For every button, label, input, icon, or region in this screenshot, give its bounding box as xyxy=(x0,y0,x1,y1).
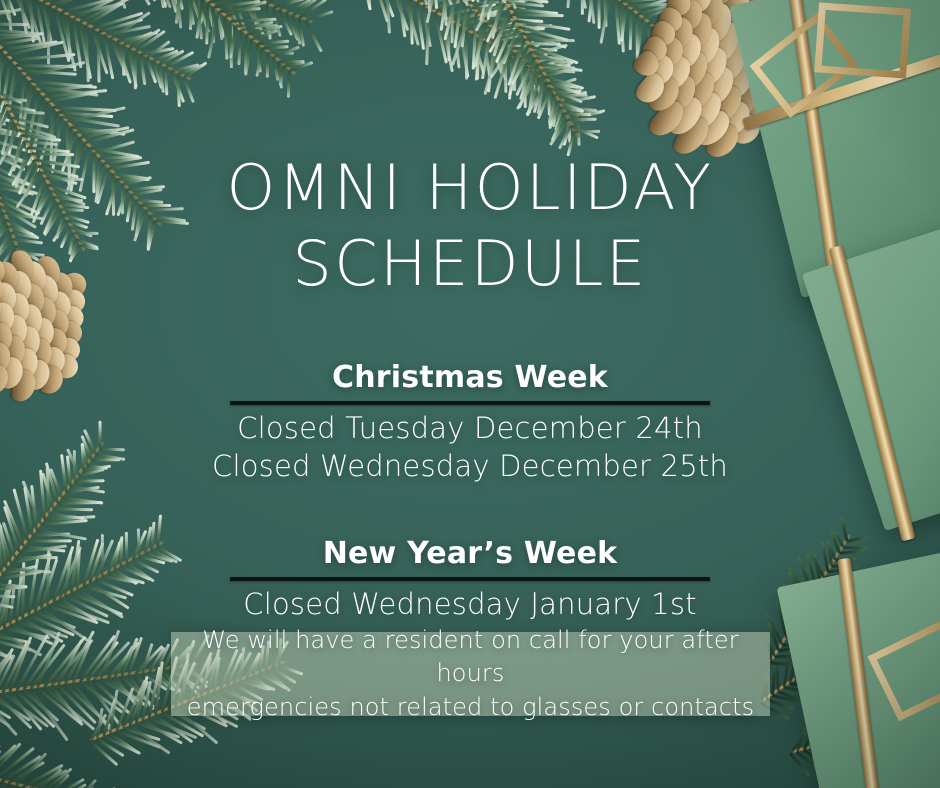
section-heading-new-year: New Year’s Week xyxy=(0,536,940,571)
section-line-christmas-1: Closed Tuesday December 24th xyxy=(0,409,940,447)
title-line-2: SCHEDULE xyxy=(0,226,940,302)
section-heading-christmas: Christmas Week xyxy=(0,360,940,395)
after-hours-banner: We will have a resident on call for your… xyxy=(171,632,770,716)
banner-line-2: emergencies not related to glasses or co… xyxy=(187,693,754,721)
section-new-year: New Year’s Week Closed Wednesday January… xyxy=(0,536,940,623)
section-christmas: Christmas Week Closed Tuesday December 2… xyxy=(0,360,940,486)
page-title: OMNI HOLIDAY SCHEDULE xyxy=(0,150,940,301)
section-line-christmas-2: Closed Wednesday December 25th xyxy=(0,447,940,485)
holiday-schedule-poster: OMNI HOLIDAY SCHEDULE Christmas Week Clo… xyxy=(0,0,940,788)
section-line-new-year-1: Closed Wednesday January 1st xyxy=(0,585,940,623)
title-line-1: OMNI HOLIDAY xyxy=(0,150,940,226)
section-divider-christmas xyxy=(230,401,710,405)
banner-line-1: We will have a resident on call for your… xyxy=(202,626,738,687)
section-divider-new-year xyxy=(230,577,710,581)
